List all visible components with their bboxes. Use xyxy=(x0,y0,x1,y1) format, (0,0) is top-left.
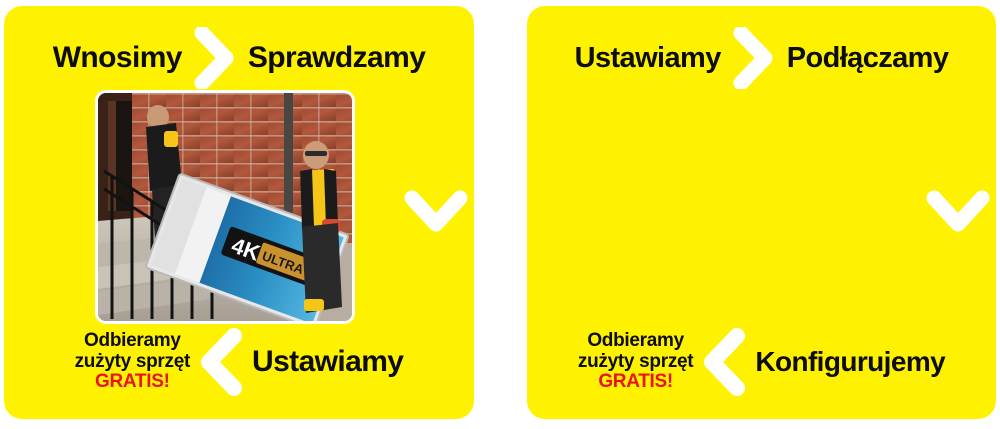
step-label-ustawiamy-top: Ustawiamy xyxy=(575,44,721,73)
recycle-note: Odbieramy zużyty sprzęt GRATIS! xyxy=(75,331,190,394)
photo-tv-delivery-stairs: 4K ULTRA HD xyxy=(98,93,352,321)
recycle-line-2: zużyty sprzęt xyxy=(75,352,190,373)
recycle-gratis-badge: GRATIS! xyxy=(578,372,693,393)
chevron-right-icon xyxy=(731,27,777,89)
recycle-line-2: zużyty sprzęt xyxy=(578,352,693,373)
recycle-line-1: Odbieramy xyxy=(578,331,693,352)
chevron-right-icon xyxy=(192,27,238,89)
recycle-line-1: Odbieramy xyxy=(75,331,190,352)
chevron-left-icon xyxy=(699,328,749,396)
chevron-left-icon xyxy=(196,328,246,396)
step-label-wnosimy: Wnosimy xyxy=(53,43,182,73)
step-row-top: Wnosimy Sprawdzamy xyxy=(4,28,474,88)
recycle-gratis-badge: GRATIS! xyxy=(75,372,190,393)
recycle-note: Odbieramy zużyty sprzęt GRATIS! xyxy=(578,331,693,394)
step-label-konfigurujemy: Konfigurujemy xyxy=(755,348,945,376)
step-row-top: Ustawiamy Podłączamy xyxy=(527,28,996,88)
step-label-ustawiamy: Ustawiamy xyxy=(252,347,403,377)
step-label-podlaczamy: Podłączamy xyxy=(787,44,949,73)
chevron-down-icon xyxy=(404,188,468,238)
chevron-down-icon xyxy=(926,188,990,238)
step-label-sprawdzamy: Sprawdzamy xyxy=(248,43,425,73)
service-card-right: Ustawiamy Podłączamy xyxy=(527,6,996,419)
step-row-bottom: Odbieramy zużyty sprzęt GRATIS! Ustawiam… xyxy=(4,319,474,405)
step-row-bottom: Odbieramy zużyty sprzęt GRATIS! Konfigur… xyxy=(527,319,996,405)
service-steps-banner: Wnosimy Sprawdzamy xyxy=(0,0,1000,429)
service-card-left: Wnosimy Sprawdzamy xyxy=(4,6,474,419)
